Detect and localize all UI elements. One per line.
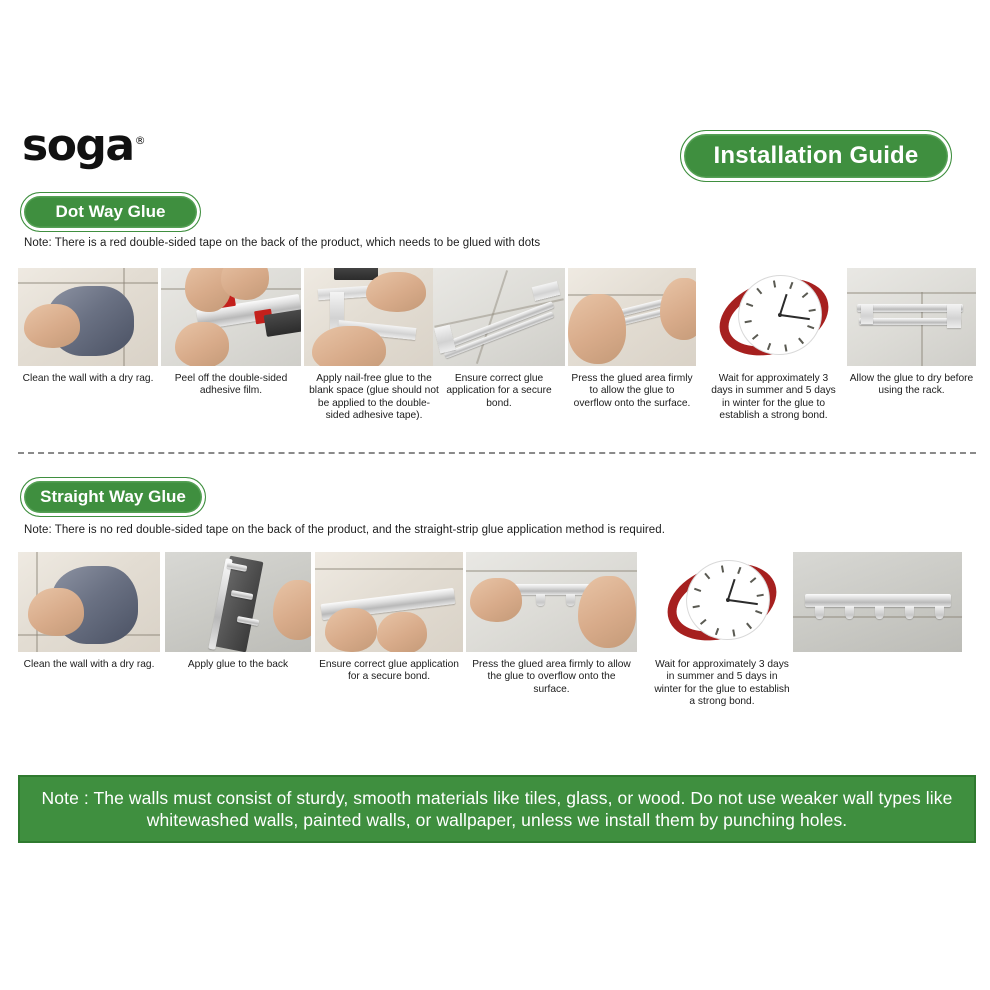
hand: [24, 304, 80, 348]
step-image-wait-clock: [706, 268, 841, 366]
grout-line: [18, 282, 158, 284]
hook: [845, 606, 854, 619]
step-image-peel-adhesive-film: [161, 268, 301, 366]
step-caption: Clean the wall with a dry rag.: [18, 659, 160, 671]
brand-logo: soga®: [22, 124, 146, 168]
clock-center-pin: [777, 313, 782, 318]
hand: [377, 612, 427, 652]
step-image-apply-glue-to-back: [165, 552, 311, 652]
clock-tick: [756, 288, 762, 295]
clock-tick: [808, 309, 815, 312]
glue-gun-nozzle: [334, 268, 378, 280]
hand: [578, 576, 636, 648]
hand: [28, 588, 84, 636]
step-image-clean-wall: [18, 268, 158, 366]
hand: [325, 608, 377, 652]
step-image-finished-rack: [847, 268, 976, 366]
step-item: Ensure correct glue application for a se…: [315, 552, 463, 684]
clock-minute-hand: [779, 314, 809, 321]
clock-tick: [693, 605, 700, 608]
step-caption: Allow the glue to dry before using the r…: [847, 373, 976, 398]
section-header-dot-way-glue: Dot Way Glue: [20, 192, 201, 232]
hook: [905, 606, 914, 619]
step-item: Wait for approximately 3 days in summer …: [706, 268, 841, 423]
clock-tick: [807, 325, 814, 329]
step-item: Apply glue to the back: [165, 552, 311, 671]
hand: [175, 322, 229, 366]
step-item: Ensure correct glue application for a se…: [433, 268, 565, 410]
clock-tick: [744, 320, 751, 323]
hook: [875, 606, 884, 619]
step-caption: Ensure correct glue application for a se…: [433, 373, 565, 410]
clock-tick: [751, 334, 758, 340]
clock-tick: [801, 292, 808, 298]
hand: [660, 278, 696, 340]
step-item: Wait for approximately 3 days in summer …: [652, 552, 792, 709]
section-title-label: Straight Way Glue: [40, 487, 186, 507]
section-note-straight-way-glue: Note: There is no red double-sided tape …: [24, 524, 665, 536]
installation-guide-badge-label: Installation Guide: [714, 142, 919, 170]
step-item: Allow the glue to dry before using the r…: [847, 268, 976, 398]
step-image-clean-wall: [18, 552, 160, 652]
clock-tick: [750, 577, 757, 583]
step-image-correct-glue-application: [433, 268, 565, 366]
step-image-finished-hook-rail: [793, 552, 962, 652]
clock-tick: [694, 588, 701, 592]
grout-line: [315, 568, 463, 570]
hook: [935, 606, 944, 619]
clock-tick: [746, 303, 753, 307]
grout-line: [466, 570, 637, 572]
clock-tick: [757, 594, 764, 597]
rack-bracket: [861, 304, 873, 324]
page-header: soga® Installation Guide: [0, 118, 990, 190]
clock-tick: [721, 565, 724, 572]
installation-guide-page: soga® Installation Guide Dot Way Glue No…: [0, 0, 990, 990]
hand: [568, 294, 626, 364]
step-item: Press the glued area firmly to allow the…: [466, 552, 637, 696]
hand: [366, 272, 426, 312]
step-caption: Apply glue to the back: [165, 659, 311, 671]
step-item: [793, 552, 962, 659]
clock-tick: [755, 610, 762, 614]
step-item: Apply nail-free glue to the blank space …: [304, 268, 444, 423]
clock-tick: [766, 343, 770, 350]
grout-line: [847, 292, 976, 294]
clock-minute-hand: [728, 599, 758, 606]
step-item: Peel off the double-sided adhesive film.: [161, 268, 301, 398]
step-image-wait-clock: [652, 552, 792, 652]
step-caption: Press the glued area firmly to allow the…: [466, 659, 637, 696]
brand-logo-text: soga: [22, 120, 134, 171]
step-image-press-glued-area: [568, 268, 696, 366]
hook: [815, 606, 824, 619]
step-caption: Ensure correct glue application for a se…: [315, 659, 463, 684]
step-image-press-rail-onto-wall: [466, 552, 637, 652]
step-image-apply-nail-free-glue: [304, 268, 444, 366]
step-caption: Press the glued area firmly to allow the…: [568, 373, 696, 410]
hook: [536, 594, 545, 606]
clock-tick: [737, 567, 741, 574]
registered-trademark-icon: ®: [135, 134, 146, 147]
step-caption: Apply nail-free glue to the blank space …: [304, 373, 444, 423]
installation-guide-badge: Installation Guide: [680, 130, 952, 182]
clock-tick: [732, 629, 735, 636]
clock-tick: [772, 280, 775, 287]
hand: [273, 580, 311, 640]
step-caption: Peel off the double-sided adhesive film.: [161, 373, 301, 398]
clock-icon: [706, 268, 841, 366]
step-caption: Wait for approximately 3 days in summer …: [652, 659, 792, 709]
clock-tick: [700, 619, 707, 625]
clock-tick: [789, 282, 793, 289]
clock-tick: [798, 338, 804, 345]
clock-tick: [704, 573, 710, 580]
clock-tick: [746, 623, 752, 630]
step-item: Clean the wall with a dry rag.: [18, 552, 160, 671]
hand: [470, 578, 522, 622]
clock-tick: [715, 628, 719, 635]
towel-bar: [859, 318, 961, 325]
clock-icon: [652, 552, 792, 652]
footer-warning-note: Note : The walls must consist of sturdy,…: [18, 775, 976, 843]
clock-tick: [784, 344, 787, 351]
step-item: Clean the wall with a dry rag.: [18, 268, 158, 385]
section-divider: [18, 452, 976, 454]
section-title-label: Dot Way Glue: [56, 202, 166, 222]
step-caption: Clean the wall with a dry rag.: [18, 373, 158, 385]
section-note-dot-way-glue: Note: There is a red double-sided tape o…: [24, 237, 540, 249]
section-header-straight-way-glue: Straight Way Glue: [20, 477, 206, 517]
hook: [566, 594, 575, 606]
step-item: Press the glued area firmly to allow the…: [568, 268, 696, 410]
rack-bracket: [947, 304, 961, 328]
step-caption: Wait for approximately 3 days in summer …: [706, 373, 841, 423]
hand: [312, 326, 386, 366]
footer-warning-text: Note : The walls must consist of sturdy,…: [38, 787, 956, 831]
step-image-hold-glued-rail: [315, 552, 463, 652]
